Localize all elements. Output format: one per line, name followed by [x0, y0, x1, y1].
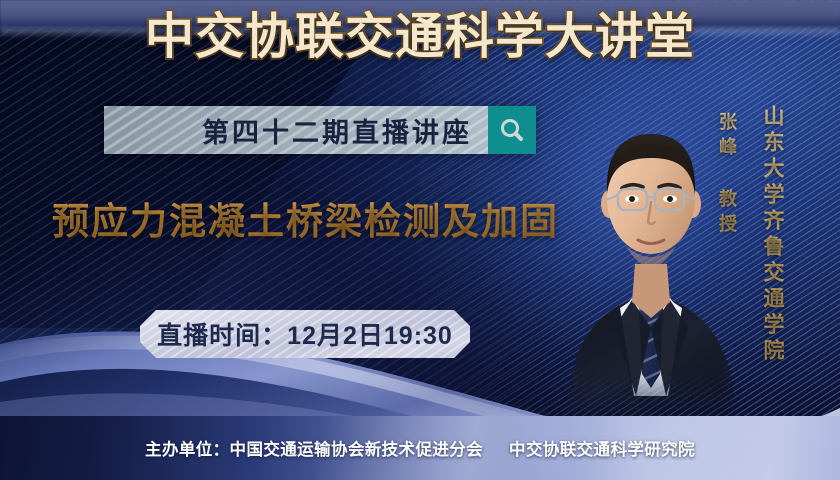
search-icon-box: [488, 106, 536, 154]
speaker-affiliation: 山东大学齐鲁交通学院: [757, 105, 787, 365]
search-icon: [498, 116, 526, 144]
sponsor-primary: 主办单位：中国交通运输协会新技术促进分会: [145, 436, 483, 460]
speaker-name-title: 张峰 教授: [714, 112, 740, 239]
lecture-title: 预应力混凝土桥梁检测及加固: [52, 191, 559, 245]
session-banner-panel: 第四十二期直播讲座: [104, 106, 488, 154]
sponsor-row: 主办单位：中国交通运输协会新技术促进分会 中交协联交通科学研究院: [0, 416, 840, 480]
sponsor-strip: 主办单位：中国交通运输协会新技术促进分会 中交协联交通科学研究院: [0, 416, 840, 480]
main-title-text: 中交协联交通科学大讲堂: [145, 10, 695, 64]
broadcast-time-pill: 直播时间：12月2日19:30: [140, 310, 470, 358]
session-banner: 第四十二期直播讲座: [104, 106, 536, 154]
poster-main-title: 中交协联交通科学大讲堂: [0, 13, 840, 62]
sponsor-secondary: 中交协联交通科学研究院: [509, 436, 695, 460]
broadcast-time-text: 直播时间：12月2日19:30: [157, 316, 453, 352]
session-banner-text: 第四十二期直播讲座: [202, 111, 472, 150]
lecture-promo-poster: 中交协联交通科学大讲堂 第四十二期直播讲座 预应力混凝土桥梁检测及加固 直播时间…: [0, 0, 840, 480]
